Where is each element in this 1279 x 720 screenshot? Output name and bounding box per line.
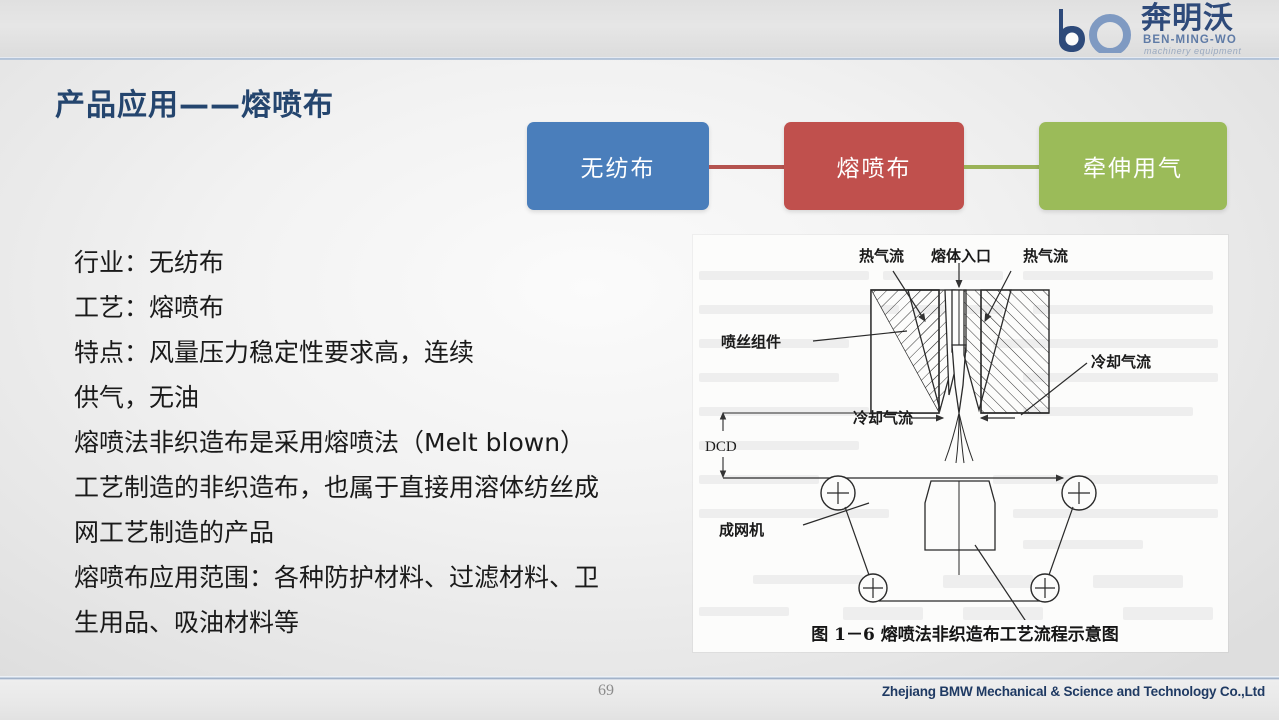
svg-text:熔体入口: 熔体入口 — [931, 247, 991, 265]
svg-text:冷却气流: 冷却气流 — [853, 409, 913, 427]
figure-caption: 图 1－6 熔喷法非织造布工艺流程示意图 — [755, 620, 1175, 645]
flow-box-meltblown[interactable]: 熔喷布 — [784, 122, 964, 210]
process-flow: 无纺布 熔喷布 牵伸用气 — [527, 122, 1227, 214]
company-logo: 奔明沃 BEN-MING-WO machinery equipment — [1049, 3, 1271, 57]
body-line-9: 生用品、吸油材料等 — [74, 600, 674, 645]
flow-box-drawing-air[interactable]: 牵伸用气 — [1039, 122, 1227, 210]
svg-text:热气流: 热气流 — [1023, 247, 1068, 265]
meltblown-process-figure: 热气流 熔体入口 热气流 喷丝组件 冷却气流 冷却气流 DCD — [693, 235, 1228, 652]
body-line-2: 工艺：熔喷布 — [74, 285, 674, 330]
flow-connector-2 — [964, 165, 1039, 169]
svg-text:DCD: DCD — [705, 439, 737, 455]
body-line-8: 熔喷布应用范围：各种防护材料、过滤材料、卫 — [74, 555, 674, 600]
body-line-3: 特点：风量压力稳定性要求高，连续 — [74, 330, 674, 375]
body-text-block: 行业：无纺布 工艺：熔喷布 特点：风量压力稳定性要求高，连续 供气，无油 熔喷法… — [74, 240, 674, 645]
page-title: 产品应用——熔喷布 — [55, 80, 334, 124]
body-line-4: 供气，无油 — [74, 375, 674, 420]
flow-connector-1 — [709, 165, 784, 169]
slide-root: 奔明沃 BEN-MING-WO machinery equipment 产品应用… — [0, 0, 1279, 720]
body-line-5: 熔喷法非织造布是采用熔喷法（Melt blown） — [74, 420, 674, 465]
logo-name-en: BEN-MING-WO — [1143, 34, 1237, 46]
logo-tagline: machinery equipment — [1144, 46, 1241, 56]
bo-monogram-icon — [1053, 7, 1139, 53]
svg-text:成网机: 成网机 — [719, 521, 764, 539]
top-divider-rule — [0, 57, 1279, 60]
body-line-6: 工艺制造的非织造布，也属于直接用溶体纺丝成 — [74, 465, 674, 510]
footer-company-name: Zhejiang BMW Mechanical & Science and Te… — [882, 684, 1265, 699]
logo-name-cn: 奔明沃 — [1141, 3, 1234, 35]
body-line-1: 行业：无纺布 — [74, 240, 674, 285]
flow-box-nonwoven[interactable]: 无纺布 — [527, 122, 709, 210]
page-number: 69 — [598, 682, 614, 700]
svg-text:热气流: 热气流 — [859, 247, 904, 265]
svg-text:冷却气流: 冷却气流 — [1091, 353, 1151, 371]
body-line-7: 网工艺制造的产品 — [74, 510, 674, 555]
svg-text:喷丝组件: 喷丝组件 — [721, 333, 781, 351]
